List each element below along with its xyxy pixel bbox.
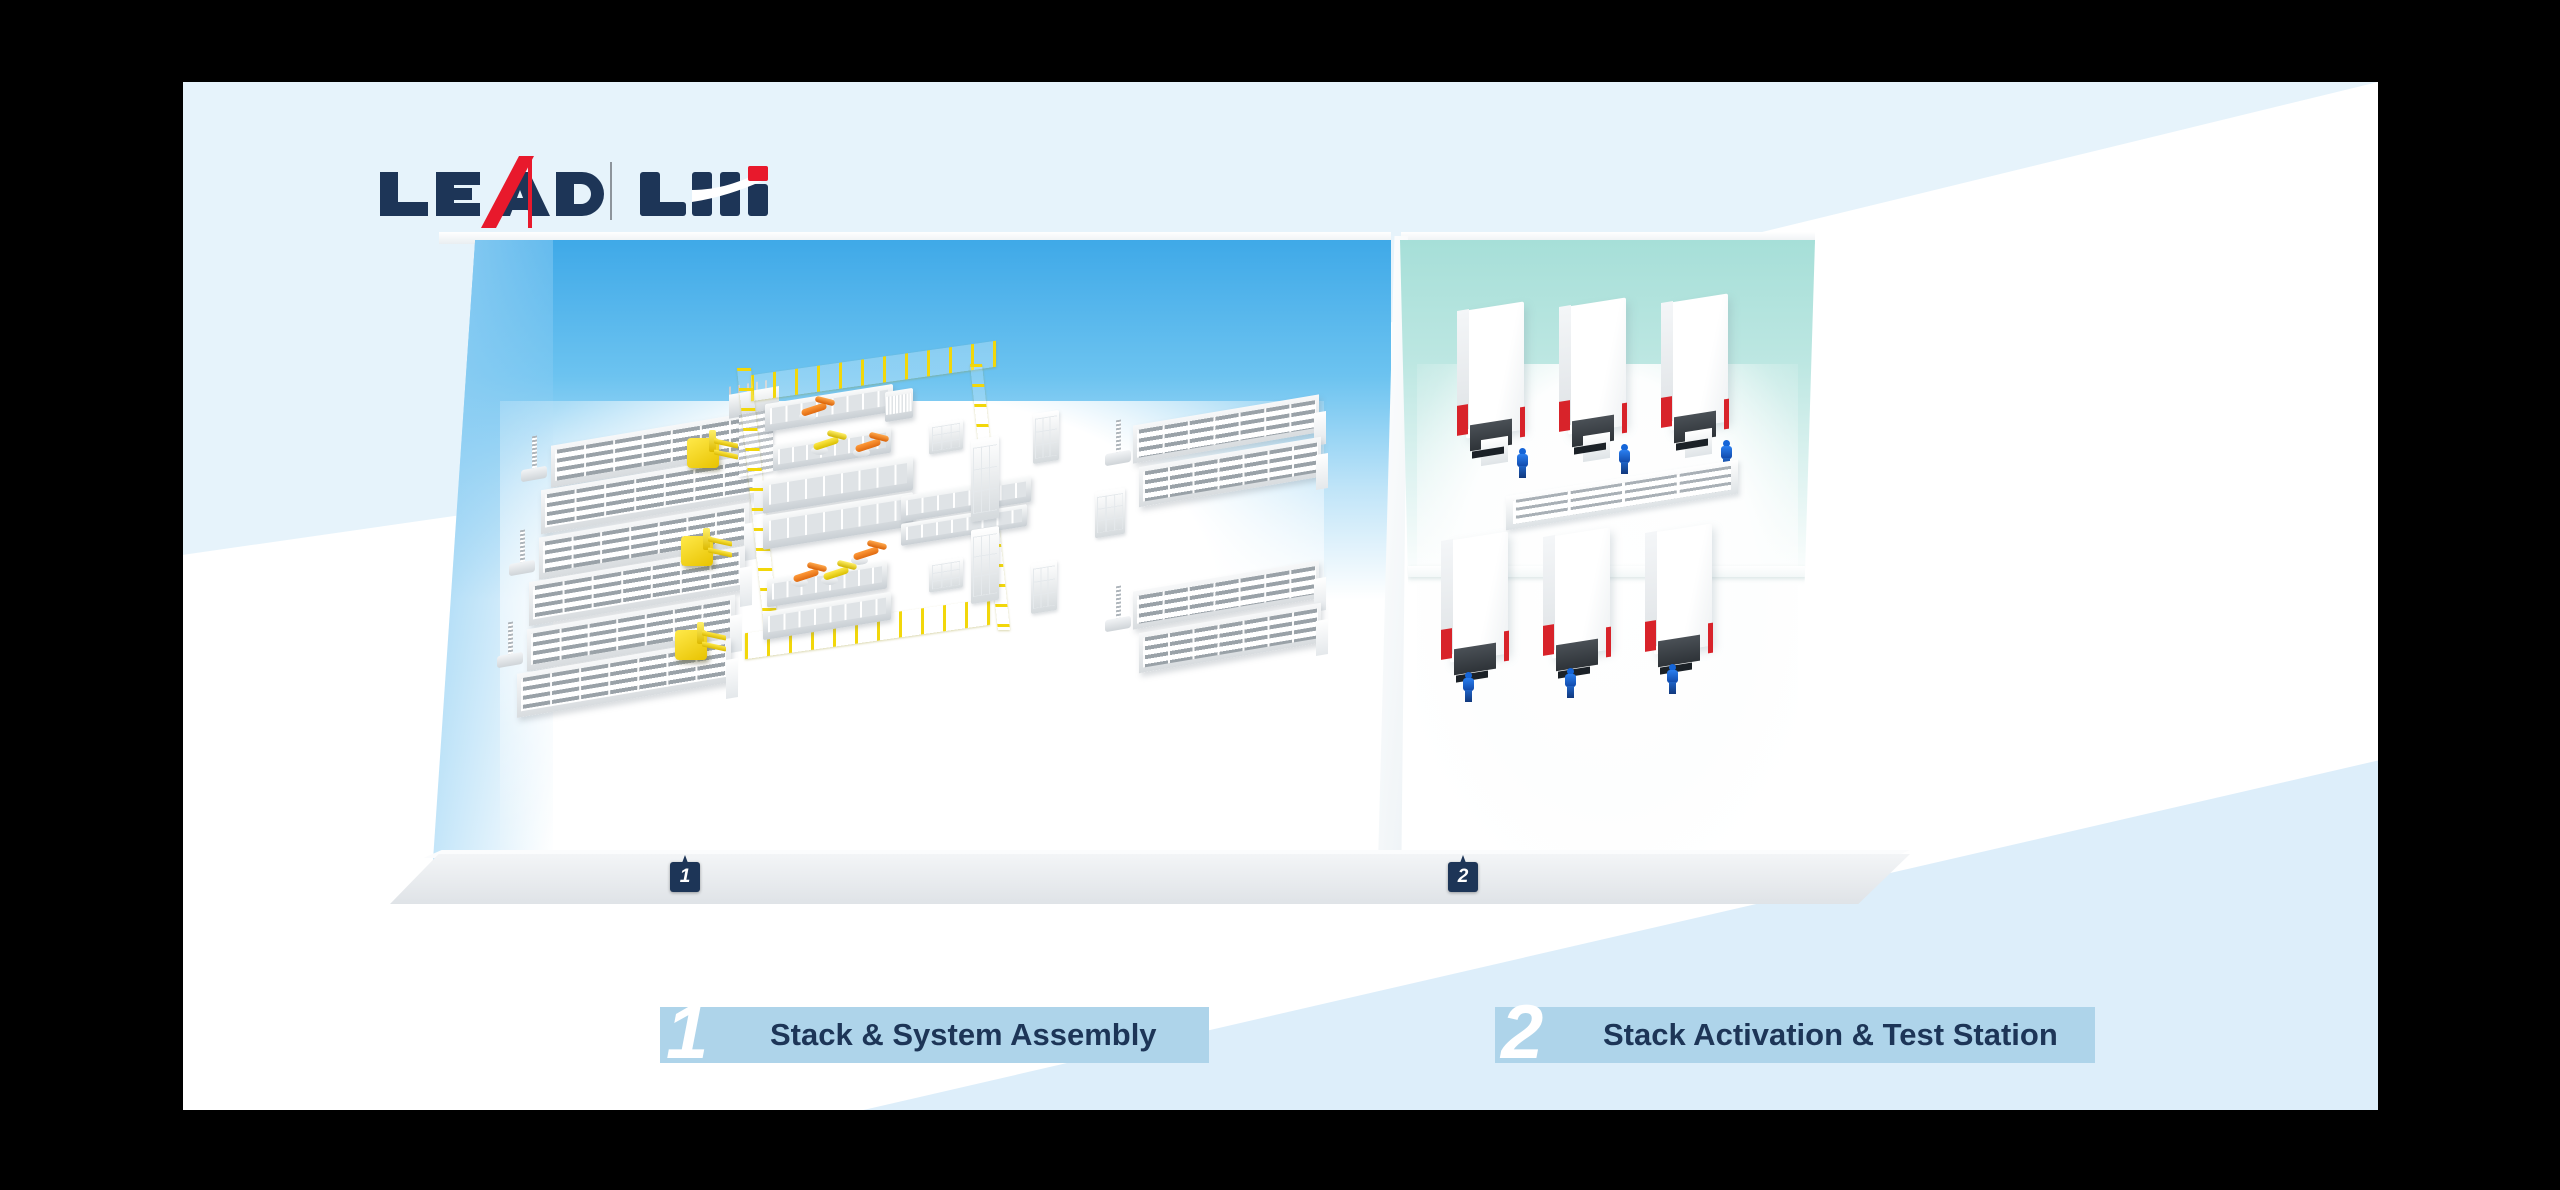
assembly-hall-zone[interactable] [433, 240, 1391, 860]
caption-number-2: 2 [1501, 995, 1540, 1071]
factory-layout-render: 1 2 [278, 222, 2068, 962]
stacker-crane [521, 434, 547, 493]
material-cart [971, 526, 999, 604]
caption-label-1: Stack & System Assembly [770, 1017, 1157, 1053]
stacker-crane [1105, 418, 1131, 477]
robot-arm [811, 430, 847, 460]
storage-rack [1139, 452, 1321, 492]
zone-pin-2[interactable]: 2 [1448, 862, 1478, 892]
test-chamber [1670, 298, 1728, 426]
robot-arm [799, 396, 835, 426]
worker-figure [1462, 672, 1475, 702]
caption-bar-1[interactable]: 1 Stack & System Assembly [660, 1007, 1209, 1063]
caption-number-1: 1 [666, 995, 705, 1071]
assembly-line-module [885, 388, 913, 422]
stacker-crane [1105, 584, 1131, 643]
robot-arm [853, 432, 889, 462]
company-logo [378, 150, 778, 232]
worker-figure [1618, 444, 1631, 474]
test-chamber [1466, 306, 1524, 434]
agv-forklift [681, 528, 725, 572]
caption-label-2: Stack Activation & Test Station [1603, 1017, 2058, 1053]
test-chamber [1552, 532, 1610, 654]
zone-pin-1[interactable]: 1 [670, 862, 700, 892]
slide-canvas: 1 2 1 Stack & System Assembly 2 Stack Ac… [183, 82, 2378, 1110]
zone-pin-1-label: 1 [680, 866, 691, 888]
stacker-crane [497, 620, 523, 679]
material-cart [929, 557, 963, 592]
storage-rack [1139, 618, 1321, 658]
worker-figure [1564, 668, 1577, 698]
test-chamber [1568, 302, 1626, 430]
stacker-crane [509, 528, 535, 587]
lhi-red-dot-icon [748, 166, 768, 181]
robot-arm [821, 560, 857, 590]
worker-figure [1666, 664, 1679, 694]
zone-pin-2-label: 2 [1458, 866, 1469, 888]
material-cart [1095, 488, 1125, 539]
material-cart [971, 436, 999, 522]
material-cart [1033, 410, 1059, 464]
caption-bar-2[interactable]: 2 Stack Activation & Test Station [1495, 1007, 2095, 1063]
agv-forklift [675, 622, 719, 666]
logo-artwork [378, 150, 778, 232]
logo-divider-icon [610, 162, 612, 220]
material-cart [929, 419, 963, 454]
test-chamber [1450, 536, 1508, 658]
base-plinth [390, 854, 1910, 904]
worker-figure [1516, 448, 1529, 478]
test-station-hall-zone[interactable] [1400, 240, 1815, 860]
test-chamber [1654, 528, 1712, 650]
agv-forklift [687, 430, 731, 474]
material-cart [1031, 560, 1057, 614]
